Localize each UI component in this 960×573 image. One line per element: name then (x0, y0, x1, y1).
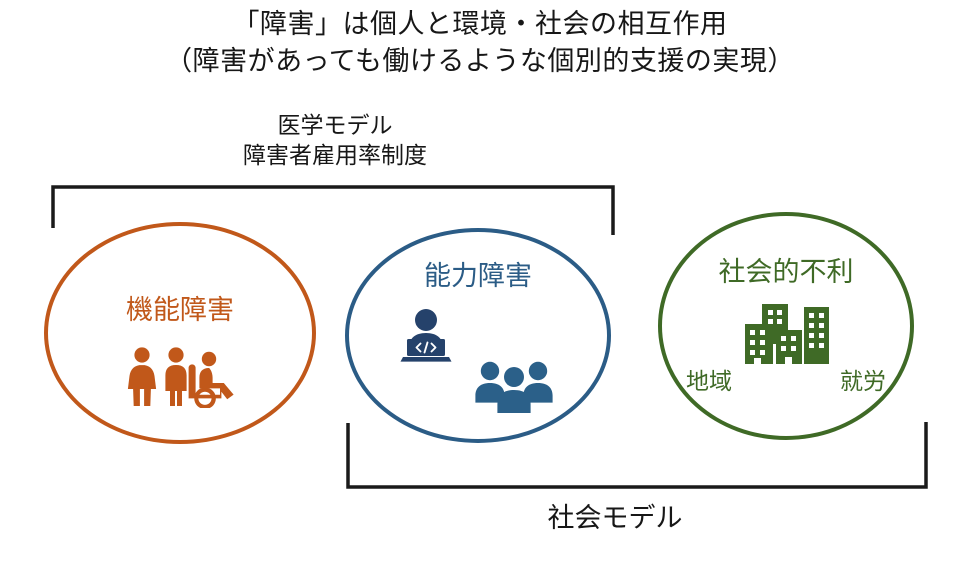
medical-model-caption-line-1: 医学モデル (150, 110, 520, 140)
social-model-caption-line-1: 社会モデル (445, 496, 785, 535)
circle-handicap-label: 社会的不利 (662, 250, 910, 289)
circle-handicap[interactable]: 社会的不利 (658, 212, 914, 440)
medical-model-caption: 医学モデル 障害者雇用率制度 (150, 110, 520, 171)
circle-handicap-sublabels: 地域 就労 (668, 362, 904, 396)
buildings-icon (742, 302, 836, 371)
title-line-1: 「障害」は個人と環境・社会の相互作用 (0, 6, 960, 43)
sublabel-community: 地域 (686, 362, 732, 396)
three-people-wheelchair-icon (126, 346, 242, 413)
circle-impairment-label: 機能障害 (48, 288, 312, 327)
sublabel-employment: 就労 (840, 362, 886, 396)
people-group-icon (474, 360, 554, 419)
title-line-2: （障害があっても働けるような個別的支援の実現） (0, 43, 960, 80)
circle-impairment[interactable]: 機能障害 (44, 222, 316, 444)
diagram-title: 「障害」は個人と環境・社会の相互作用 （障害があっても働けるような個別的支援の実… (0, 6, 960, 81)
medical-model-caption-line-2: 障害者雇用率制度 (150, 140, 520, 170)
circle-disability-label: 能力障害 (349, 254, 607, 293)
diagram-canvas: 「障害」は個人と環境・社会の相互作用 （障害があっても働けるような個別的支援の実… (0, 0, 960, 573)
social-model-caption: 社会モデル (445, 496, 785, 535)
circle-disability[interactable]: 能力障害 (345, 228, 611, 443)
person-laptop-code-icon (397, 308, 455, 369)
